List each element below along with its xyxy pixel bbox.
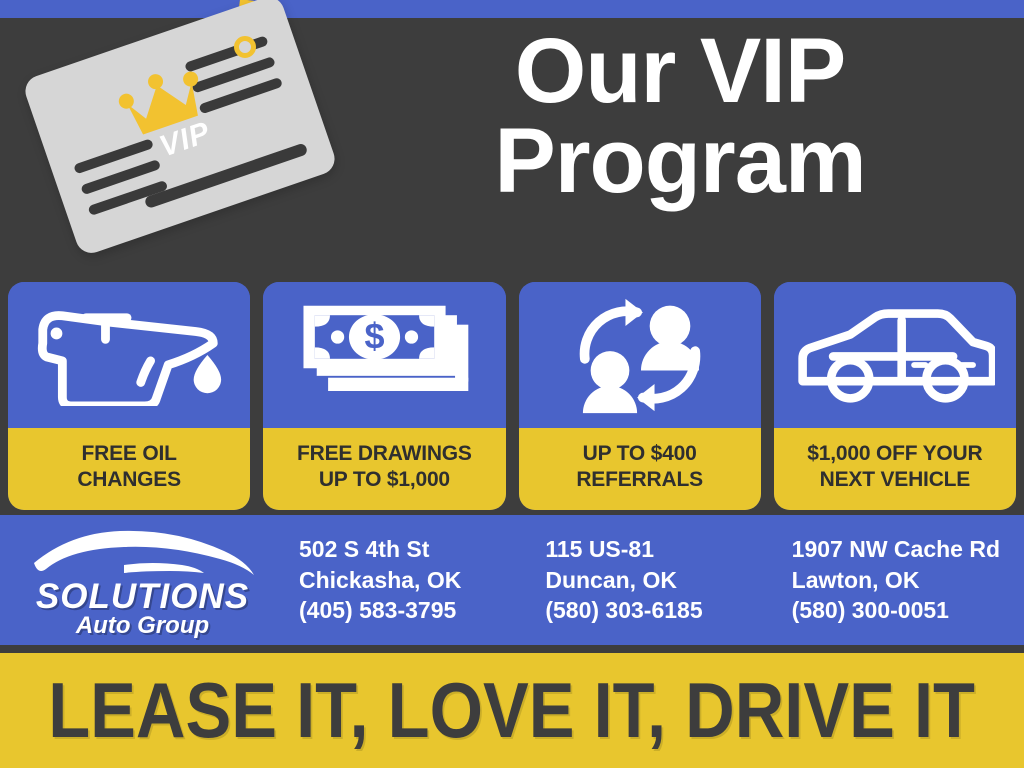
tagline-banner: LEASE IT, LOVE IT, DRIVE IT bbox=[0, 653, 1024, 768]
cash-bills-icon: $ bbox=[263, 282, 505, 428]
benefit-card-referrals[interactable]: UP TO $400 REFERRALS bbox=[519, 282, 761, 510]
vip-program-poster: VIP Our VIP Program bbox=[0, 0, 1024, 768]
badge-grommet-icon bbox=[234, 36, 256, 58]
oil-can-icon bbox=[8, 282, 250, 428]
page-title: Our VIP Program bbox=[360, 26, 1000, 206]
benefit-card-vehicle-discount[interactable]: $1,000 OFF YOUR NEXT VEHICLE bbox=[774, 282, 1016, 510]
locations-list: 502 S 4th St Chickasha, OK (405) 583-379… bbox=[285, 515, 1024, 645]
car-swoosh-icon bbox=[28, 529, 260, 581]
logo-subtitle: Auto Group bbox=[0, 612, 285, 640]
vip-badge-graphic: VIP bbox=[18, 0, 348, 280]
locations-footer: SOLUTIONS Auto Group 502 S 4th St Chicka… bbox=[0, 515, 1024, 645]
logo-company-name: SOLUTIONS bbox=[0, 577, 285, 617]
location-item[interactable]: 115 US-81 Duncan, OK (580) 303-6185 bbox=[531, 534, 777, 625]
benefit-label: $1,000 OFF YOUR NEXT VEHICLE bbox=[774, 428, 1016, 510]
car-icon bbox=[774, 282, 1016, 428]
vip-badge-card: VIP bbox=[21, 0, 339, 257]
location-item[interactable]: 502 S 4th St Chickasha, OK (405) 583-379… bbox=[285, 534, 531, 625]
svg-text:$: $ bbox=[365, 315, 385, 356]
benefit-label: UP TO $400 REFERRALS bbox=[519, 428, 761, 510]
benefit-label: FREE DRAWINGS UP TO $1,000 bbox=[263, 428, 505, 510]
benefit-card-oil-changes[interactable]: FREE OIL CHANGES bbox=[8, 282, 250, 510]
benefit-label: FREE OIL CHANGES bbox=[8, 428, 250, 510]
hero-section: VIP Our VIP Program bbox=[0, 18, 1024, 280]
company-logo[interactable]: SOLUTIONS Auto Group bbox=[0, 515, 285, 645]
benefits-card-list: FREE OIL CHANGES $ bbox=[0, 282, 1024, 510]
referral-people-icon bbox=[519, 282, 761, 428]
location-item[interactable]: 1907 NW Cache Rd Lawton, OK (580) 300-00… bbox=[778, 534, 1024, 625]
title-line-1: Our VIP bbox=[360, 26, 1000, 116]
tagline-text: LEASE IT, LOVE IT, DRIVE IT bbox=[49, 665, 976, 756]
benefit-card-drawings[interactable]: $ FREE DRAWINGS UP TO $1,000 bbox=[263, 282, 505, 510]
title-line-2: Program bbox=[360, 116, 1000, 206]
